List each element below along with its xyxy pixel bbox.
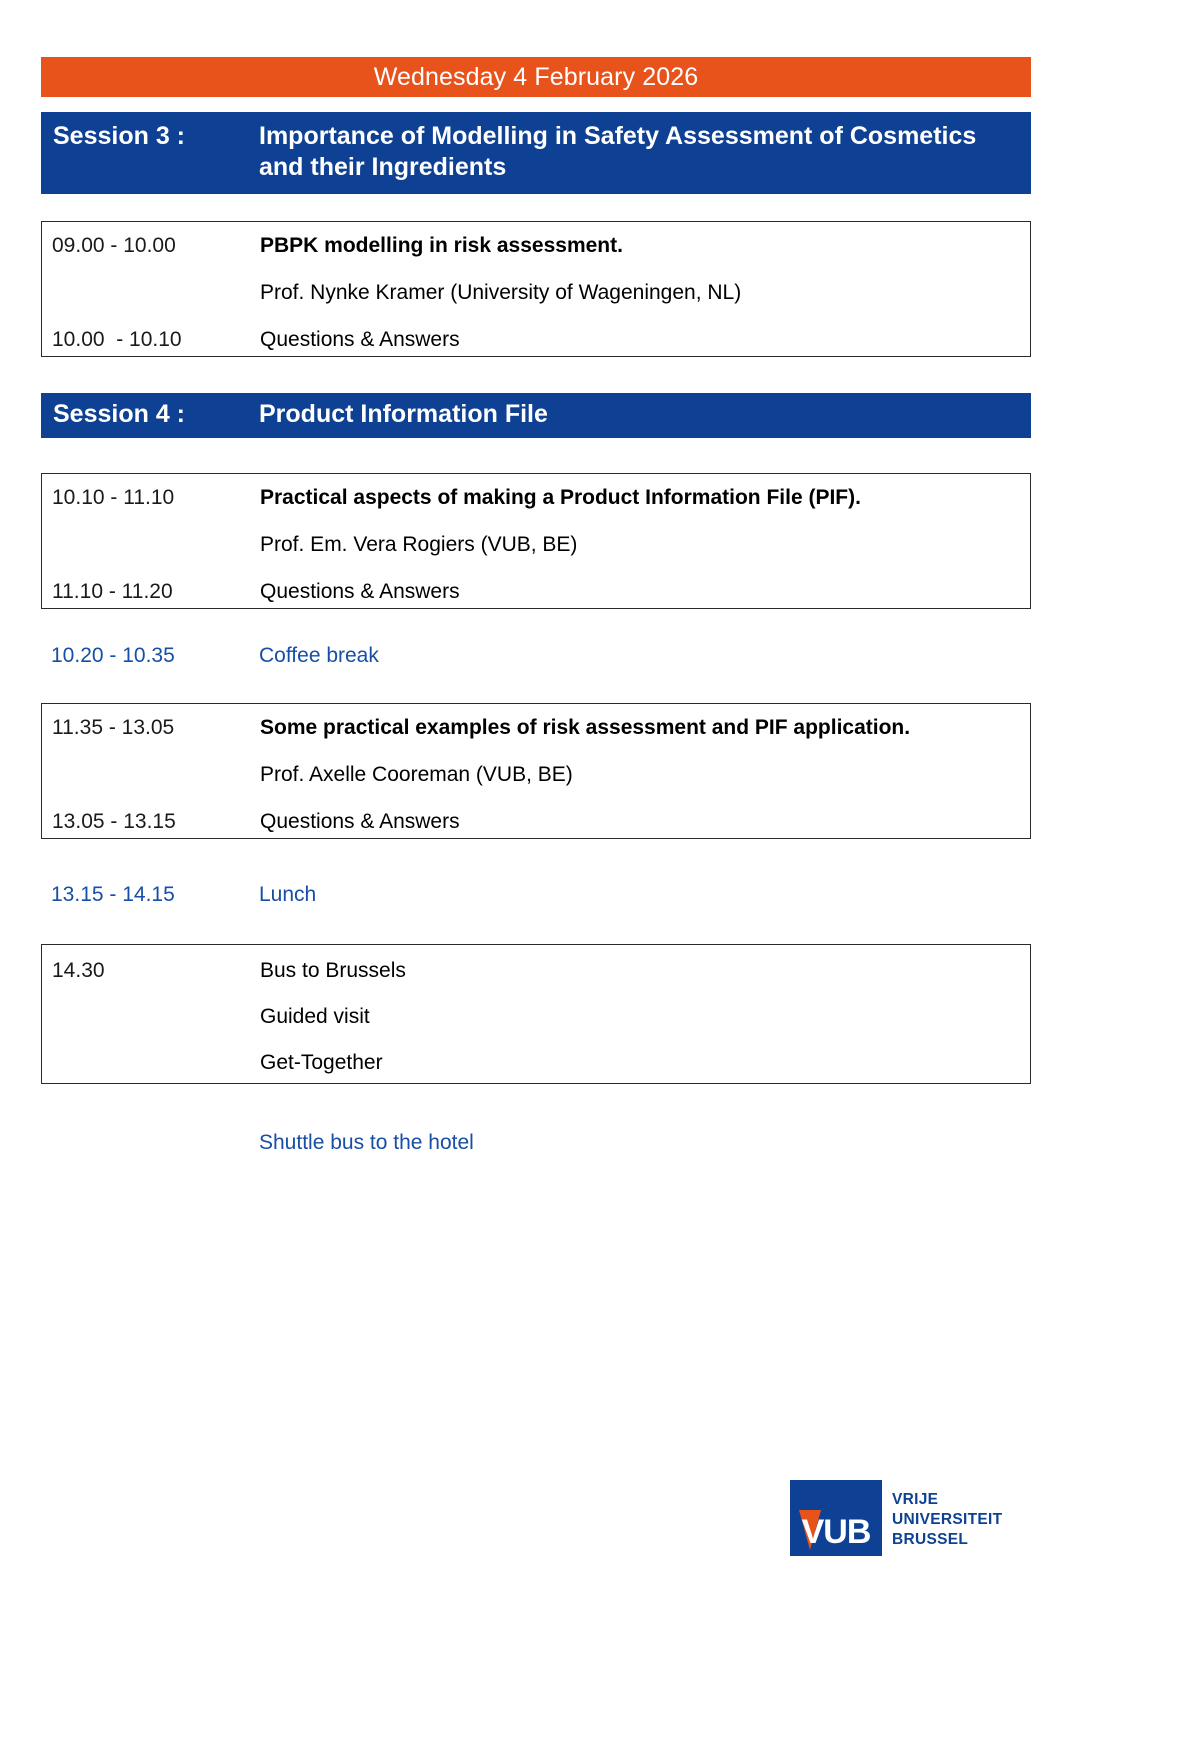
row-title: Get-Together <box>260 1051 1030 1075</box>
table-row: 14.30 Bus to Brussels <box>42 959 1030 1005</box>
date-banner: Wednesday 4 February 2026 <box>41 57 1031 97</box>
session-4-title: Product Information File <box>259 399 1031 430</box>
table-row: Get-Together <box>42 1051 1030 1097</box>
row-title: Bus to Brussels <box>260 959 1030 983</box>
session-3-label: Session 3 : <box>41 121 259 152</box>
vub-logo-line-2: UNIVERSITEIT <box>892 1510 1002 1530</box>
row-title: PBPK modelling in risk assessment. <box>260 234 1030 258</box>
session-3-header: Session 3 : Importance of Modelling in S… <box>41 112 1031 194</box>
row-title: Guided visit <box>260 1005 1030 1029</box>
table-row: Prof. Em. Vera Rogiers (VUB, BE) <box>42 533 1030 580</box>
lunch-label: Lunch <box>259 883 1031 907</box>
coffee-break-row: 10.20 - 10.35 Coffee break <box>41 644 1031 668</box>
table-row: Prof. Axelle Cooreman (VUB, BE) <box>42 763 1030 810</box>
row-speaker: Prof. Nynke Kramer (University of Wageni… <box>260 281 1030 305</box>
table-row: 13.05 - 13.15 Questions & Answers <box>42 810 1030 857</box>
table-row: 09.00 - 10.00 PBPK modelling in risk ass… <box>42 234 1030 281</box>
program-page: Wednesday 4 February 2026 Session 3 : Im… <box>0 0 1200 1760</box>
vub-logo-monogram: VUB <box>790 1515 882 1549</box>
table-row: 10.00 - 10.10 Questions & Answers <box>42 328 1030 375</box>
session-3-program-block: 09.00 - 10.00 PBPK modelling in risk ass… <box>41 221 1031 357</box>
session-4-header: Session 4 : Product Information File <box>41 393 1031 438</box>
session-4-program-block: 10.10 - 11.10 Practical aspects of makin… <box>41 473 1031 609</box>
afternoon-activities-block: 14.30 Bus to Brussels Guided visit Get-T… <box>41 944 1031 1084</box>
vub-logo-line-3: BRUSSEL <box>892 1530 1002 1550</box>
row-title: Some practical examples of risk assessme… <box>260 716 1030 740</box>
row-time: 09.00 - 10.00 <box>42 234 260 258</box>
row-time: 14.30 <box>42 959 260 983</box>
row-title: Practical aspects of making a Product In… <box>260 486 1030 510</box>
row-time: 13.05 - 13.15 <box>42 810 260 834</box>
row-time: 11.35 - 13.05 <box>42 716 260 740</box>
lunch-row: 13.15 - 14.15 Lunch <box>41 883 1031 907</box>
row-title: Questions & Answers <box>260 328 1030 352</box>
vub-logo: VUB VRIJE UNIVERSITEIT BRUSSEL <box>790 1480 1030 1560</box>
session-4-label: Session 4 : <box>41 399 259 430</box>
vub-logo-mark: VUB <box>790 1480 882 1556</box>
lunch-time: 13.15 - 14.15 <box>41 883 259 907</box>
table-row: Prof. Nynke Kramer (University of Wageni… <box>42 281 1030 328</box>
row-title: Questions & Answers <box>260 810 1030 834</box>
shuttle-bus-label: Shuttle bus to the hotel <box>259 1131 1031 1155</box>
row-title: Questions & Answers <box>260 580 1030 604</box>
table-row: 11.35 - 13.05 Some practical examples of… <box>42 716 1030 763</box>
vub-logo-line-1: VRIJE <box>892 1490 1002 1510</box>
vub-logo-wordmark: VRIJE UNIVERSITEIT BRUSSEL <box>882 1480 1002 1560</box>
table-row: Guided visit <box>42 1005 1030 1051</box>
row-time: 11.10 - 11.20 <box>42 580 260 604</box>
date-banner-text: Wednesday 4 February 2026 <box>374 63 698 92</box>
practical-examples-block: 11.35 - 13.05 Some practical examples of… <box>41 703 1031 839</box>
shuttle-bus-row: Shuttle bus to the hotel <box>41 1131 1031 1155</box>
coffee-break-time: 10.20 - 10.35 <box>41 644 259 668</box>
table-row: 11.10 - 11.20 Questions & Answers <box>42 580 1030 627</box>
row-speaker: Prof. Axelle Cooreman (VUB, BE) <box>260 763 1030 787</box>
coffee-break-label: Coffee break <box>259 644 1031 668</box>
row-speaker: Prof. Em. Vera Rogiers (VUB, BE) <box>260 533 1030 557</box>
session-3-title: Importance of Modelling in Safety Assess… <box>259 121 1031 182</box>
row-time: 10.00 - 10.10 <box>42 328 260 352</box>
row-time: 10.10 - 11.10 <box>42 486 260 510</box>
table-row: 10.10 - 11.10 Practical aspects of makin… <box>42 486 1030 533</box>
